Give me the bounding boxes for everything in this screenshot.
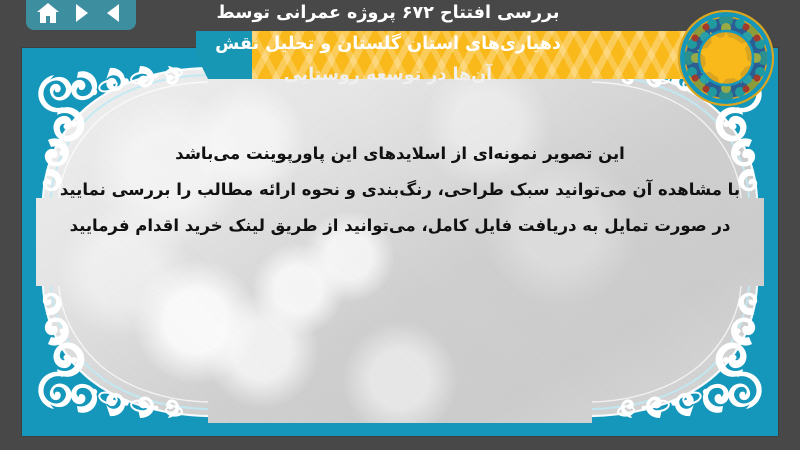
slide-viewer: این تصویر نمونه‌ای از اسلایدهای این پاور…	[0, 0, 800, 450]
persian-medallion-icon	[676, 8, 776, 108]
triangle-right-icon[interactable]	[69, 1, 93, 25]
triangle-left-icon[interactable]	[102, 1, 126, 25]
body-line-1: این تصویر نمونه‌ای از اسلایدهای این پاور…	[40, 136, 760, 172]
body-line-3: در صورت تمایل به دریافت فایل کامل، می‌تو…	[40, 208, 760, 244]
title-banner	[196, 31, 756, 79]
banner-tail	[196, 31, 256, 79]
home-icon[interactable]	[36, 1, 60, 25]
body-line-2: با مشاهده آن می‌توانید سبک طراحی، رنگ‌بن…	[40, 172, 760, 208]
slide-body-text: این تصویر نمونه‌ای از اسلایدهای این پاور…	[40, 136, 760, 244]
navigation-toolbar[interactable]	[26, 0, 136, 30]
